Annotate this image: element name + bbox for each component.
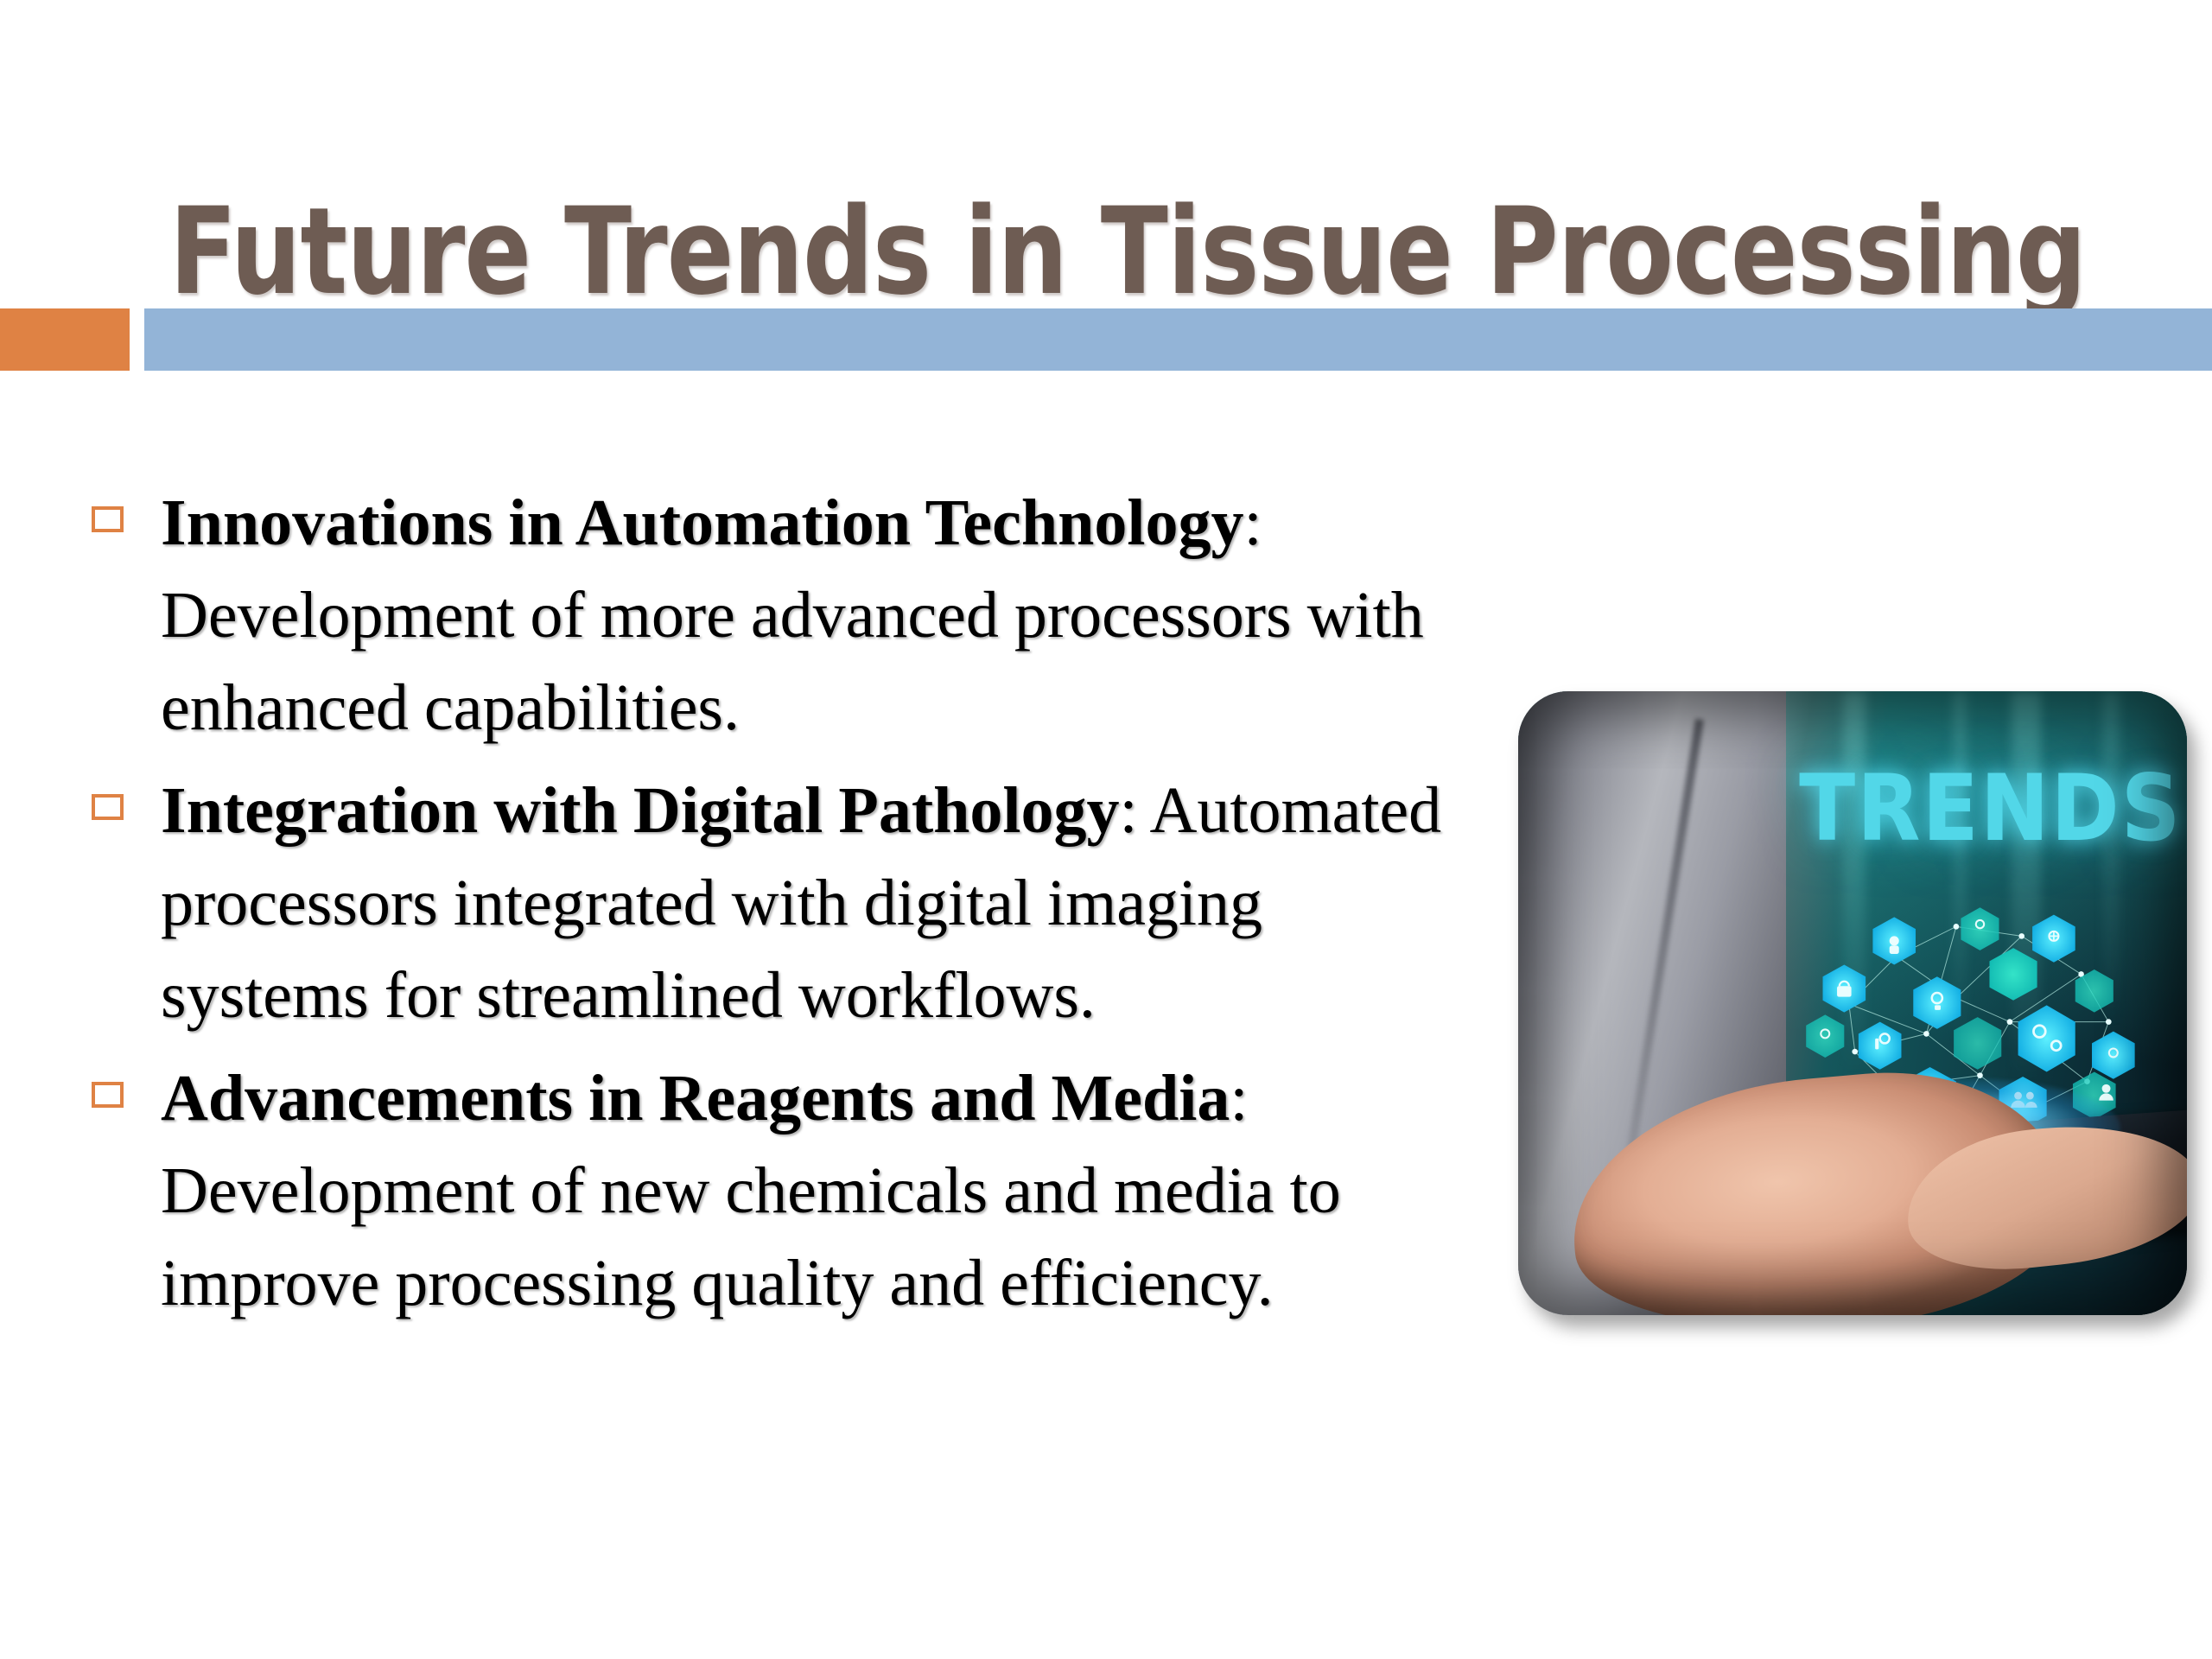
square-bullet-icon [92, 794, 124, 820]
title-accent-bar-blue [144, 308, 2212, 371]
list-item-lead: Innovations in Automation Technology [161, 486, 1244, 559]
square-bullet-icon [92, 506, 124, 532]
title-accent-bar-orange [0, 308, 130, 371]
list-item-separator: : [1244, 486, 1262, 559]
list-item-lead: Integration with Digital Pathology [161, 774, 1120, 847]
list-item-text: Advancements in Reagents and Media: Deve… [161, 1052, 1457, 1330]
trends-caption: TRENDS [1799, 763, 2173, 855]
list-item: Innovations in Automation Technology: De… [83, 477, 1457, 754]
bullet-list: Innovations in Automation Technology: De… [83, 477, 1457, 1340]
square-bullet-icon [92, 1082, 124, 1108]
list-item-separator: : [1230, 1062, 1248, 1135]
page-title: Future Trends in Tissue Processing [169, 187, 1877, 316]
list-item-text: Integration with Digital Pathology: Auto… [161, 765, 1457, 1042]
trends-image: TRENDS [1518, 691, 2187, 1315]
list-item: Integration with Digital Pathology: Auto… [83, 765, 1457, 1042]
presentation-slide: Future Trends in Tissue Processing Innov… [0, 0, 2212, 1659]
list-item-text: Innovations in Automation Technology: De… [161, 477, 1457, 754]
list-item-lead: Advancements in Reagents and Media [161, 1062, 1230, 1135]
list-item-separator: : [1120, 774, 1150, 847]
list-item-body: Development of more advanced processors … [161, 579, 1424, 744]
list-item: Advancements in Reagents and Media: Deve… [83, 1052, 1457, 1330]
list-item-body: Development of new chemicals and media t… [161, 1154, 1341, 1319]
